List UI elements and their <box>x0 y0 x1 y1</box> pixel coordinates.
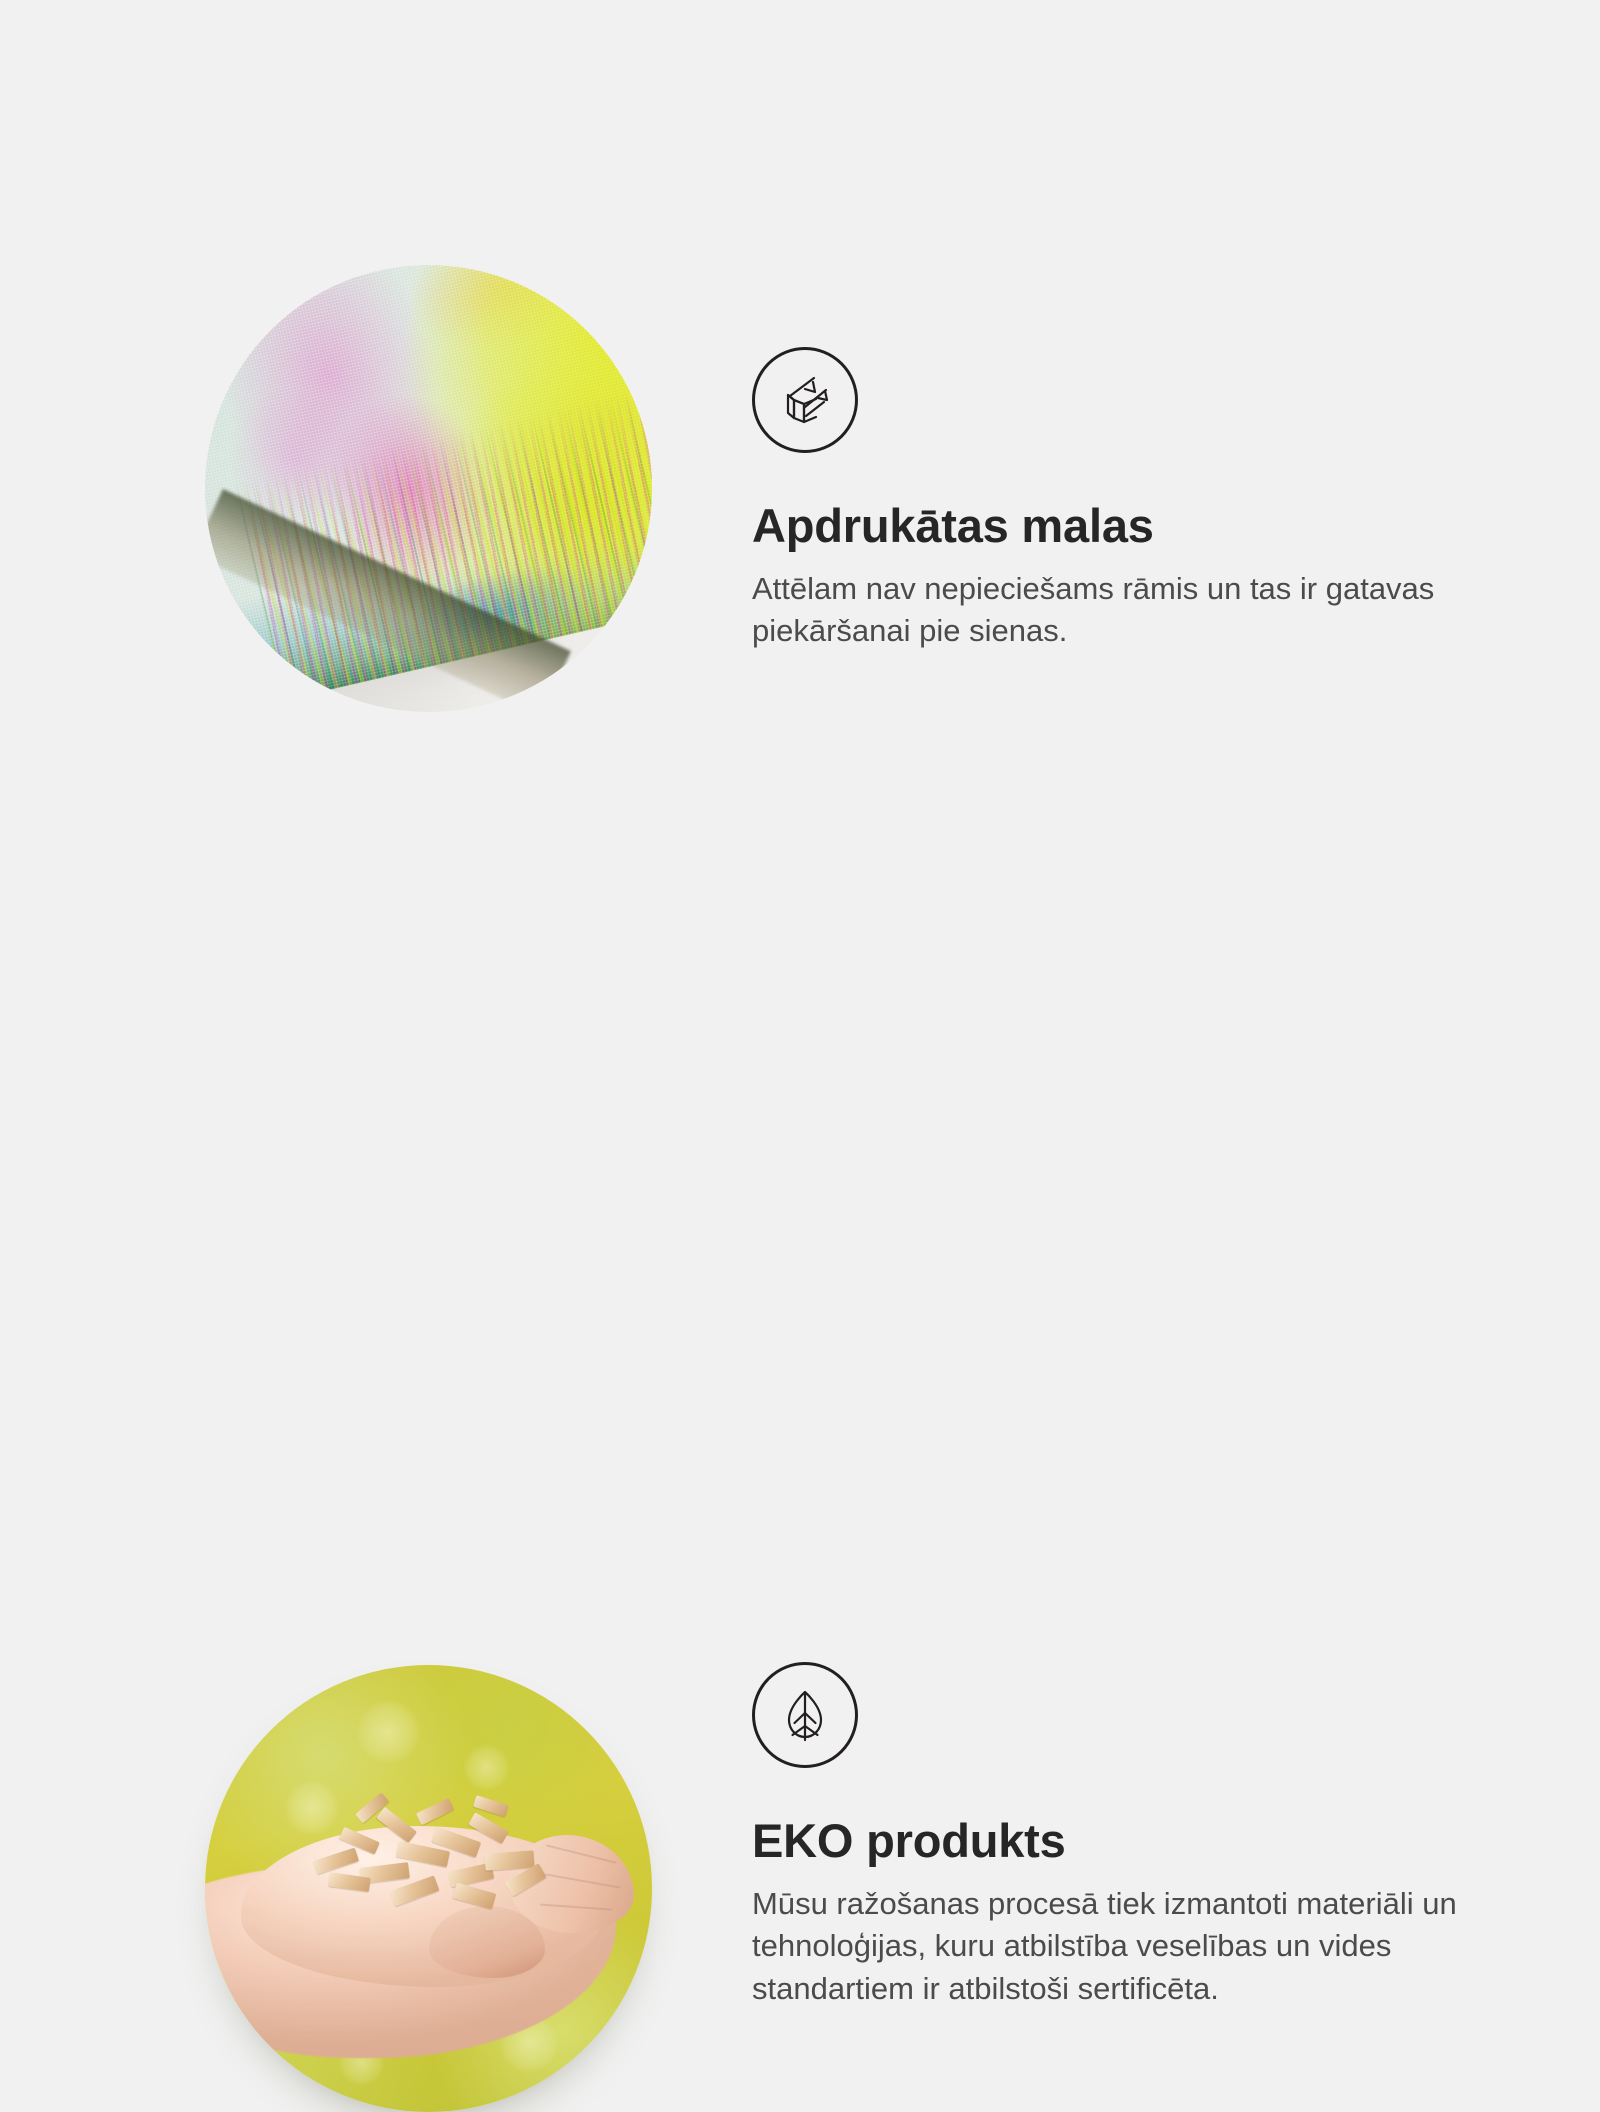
feature-text-printed-edges: Apdrukātas malas Attēlam nav nepieciešam… <box>752 347 1452 653</box>
wood-chip <box>376 1807 417 1844</box>
bokeh-light <box>357 1701 420 1764</box>
wood-chip <box>473 1795 509 1816</box>
product-features-page: Apdrukātas malas Attēlam nav nepieciešam… <box>0 0 1600 1600</box>
wood-chips-pile <box>303 1795 562 1925</box>
wood-chip <box>416 1798 454 1826</box>
feature-block-printed-edges: Apdrukātas malas Attēlam nav nepieciešam… <box>0 0 1600 800</box>
canvas-photo-background <box>205 265 652 712</box>
feature-description: Mūsu ražošanas procesā tiek izmantoti ma… <box>752 1883 1464 2011</box>
leaf-icon <box>752 1662 858 1768</box>
wood-chip <box>313 1848 359 1875</box>
feature-description: Attēlam nav nepieciešams rāmis un tas ir… <box>752 568 1452 654</box>
wood-chip <box>468 1812 509 1844</box>
canvas-wrapped-edges-icon <box>752 347 858 453</box>
feature-title: Apdrukātas malas <box>752 500 1452 552</box>
wood-chip <box>390 1875 439 1906</box>
wood-chip <box>452 1883 496 1909</box>
canvas-print-corner-photo <box>205 265 652 712</box>
wood-chip <box>484 1850 534 1870</box>
eco-photo-background <box>205 1665 652 2112</box>
hands-holding-wood-chips-photo <box>205 1665 652 2112</box>
bokeh-light <box>464 1745 509 1790</box>
feature-title: EKO produkts <box>752 1815 1464 1867</box>
feature-text-eco-product: EKO produkts Mūsu ražošanas procesā tiek… <box>752 1662 1464 2011</box>
feature-block-eco-product: EKO produkts Mūsu ražošanas procesā tiek… <box>0 800 1600 1600</box>
